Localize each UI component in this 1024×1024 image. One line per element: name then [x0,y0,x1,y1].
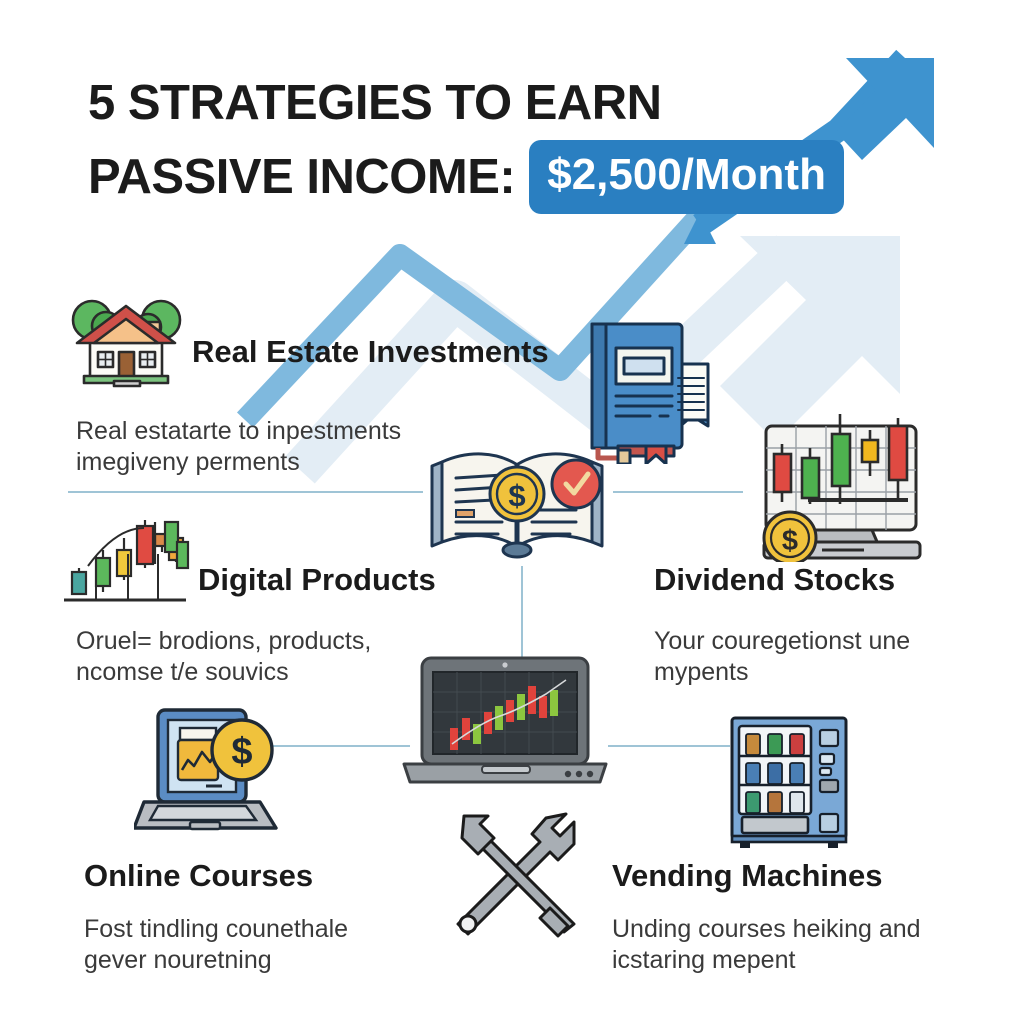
strategy-body-line-2: icstaring mepent [612,945,1012,976]
svg-text:$: $ [231,731,252,773]
strategy-title: Dividend Stocks [654,562,984,598]
strategy-title: Online Courses [84,858,484,894]
strategy-body-line-2: mypents [654,657,984,688]
check-badge [552,460,600,508]
svg-text:$: $ [508,478,525,513]
connector-line-right-upper [613,491,743,493]
infographic-canvas: 5 STRATEGIES TO EARN PASSIVE INCOME: $2,… [0,0,1024,1024]
strategy-body-line-2: gever nouretning [84,945,484,976]
open-book-coin-icon: $ [424,442,610,560]
strategy-body-line-1: Fost tindling counethale [84,914,484,945]
dollar-coin: $ [212,720,272,780]
strategy-vending-machines: Vending Machines Unding courses heiking … [612,858,1012,976]
laptop-coin-icon: $ [134,704,284,836]
blue-book-icon [578,308,722,464]
svg-text:$: $ [782,525,798,557]
strategy-body: Unding courses heiking and icstaring mep… [612,914,1012,976]
strategy-body-line-1: Unding courses heiking and [612,914,1012,945]
strategy-title: Vending Machines [612,858,1012,894]
connector-line-left-lower [262,745,410,747]
candlestick-chart-icon [58,508,190,612]
strategy-body: Your couregetionst une mypents [654,626,984,688]
strategy-body: Fost tindling counethale gever nouretnin… [84,914,484,976]
strategy-title: Digital Products [198,562,496,598]
strategy-title: Real Estate Investments [192,334,576,370]
title-line-1: 5 STRATEGIES TO EARN [88,66,844,140]
strategy-dividend-stocks: Dividend Stocks Your couregetionst une m… [654,562,984,688]
vending-machine-icon [726,714,858,848]
connector-line-right-lower [608,745,730,747]
house-icon [62,296,190,388]
page-title: 5 STRATEGIES TO EARN PASSIVE INCOME: $2,… [88,66,844,214]
title-line-2: PASSIVE INCOME: [88,140,515,214]
dollar-coin: $ [764,512,816,562]
connector-line-left-upper [68,491,423,493]
strategy-online-courses: Online Courses Fost tindling counethale … [84,858,484,976]
income-badge: $2,500/Month [529,140,844,214]
strategy-body-line-1: Your couregetionst une [654,626,984,657]
dollar-coin: $ [490,467,544,521]
laptop-chart-icon [396,652,614,788]
stock-monitor-icon: $ [748,404,944,562]
crossed-wrenches-icon [428,812,588,938]
